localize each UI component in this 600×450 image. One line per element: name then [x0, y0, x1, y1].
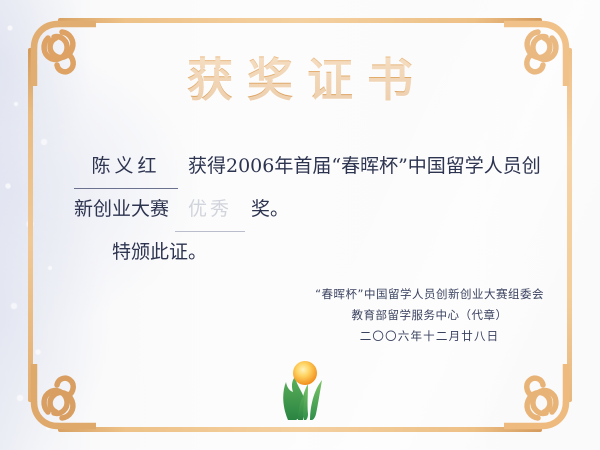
body-line-3: 特颁此证。	[74, 232, 526, 273]
recipient-name-field: 陈义红	[74, 146, 178, 189]
body-line-1-text: 获得2006年首届“春晖杯”中国留学人员创	[188, 155, 541, 177]
body-line-2: 新创业大赛优秀奖。	[74, 189, 526, 232]
body-line-1: 陈义红获得2006年首届“春晖杯”中国留学人员创	[74, 146, 526, 189]
celtic-knot-corner-icon-bottom-left	[24, 364, 96, 436]
certificate-title: 获奖证书	[0, 44, 600, 110]
certificate-page: 获奖证书 陈义红获得2006年首届“春晖杯”中国留学人员创 新创业大赛优秀奖。 …	[0, 0, 600, 450]
body-line-2-prefix: 新创业大赛	[74, 198, 169, 220]
certificate-body: 陈义红获得2006年首届“春晖杯”中国留学人员创 新创业大赛优秀奖。 特颁此证。	[74, 146, 526, 273]
signature-authority: 教育部留学服务中心（代章）	[315, 305, 544, 326]
body-line-2-suffix: 奖。	[251, 198, 289, 220]
frame-border-bottom	[58, 427, 542, 432]
celtic-knot-corner-icon-bottom-right	[504, 364, 576, 436]
signature-block: “春晖杯”中国留学人员创新创业大赛组委会 教育部留学服务中心（代章） 二〇〇六年…	[315, 284, 544, 347]
frame-border-top	[58, 18, 542, 23]
grass-blade-right	[310, 380, 322, 420]
award-rank-field: 优秀	[175, 189, 245, 232]
signature-date: 二〇〇六年十二月廿八日	[315, 326, 544, 347]
sun-disc	[293, 361, 317, 385]
signature-organizer: “春晖杯”中国留学人员创新创业大赛组委会	[315, 284, 544, 305]
chunhui-cup-emblem-icon	[274, 358, 336, 422]
